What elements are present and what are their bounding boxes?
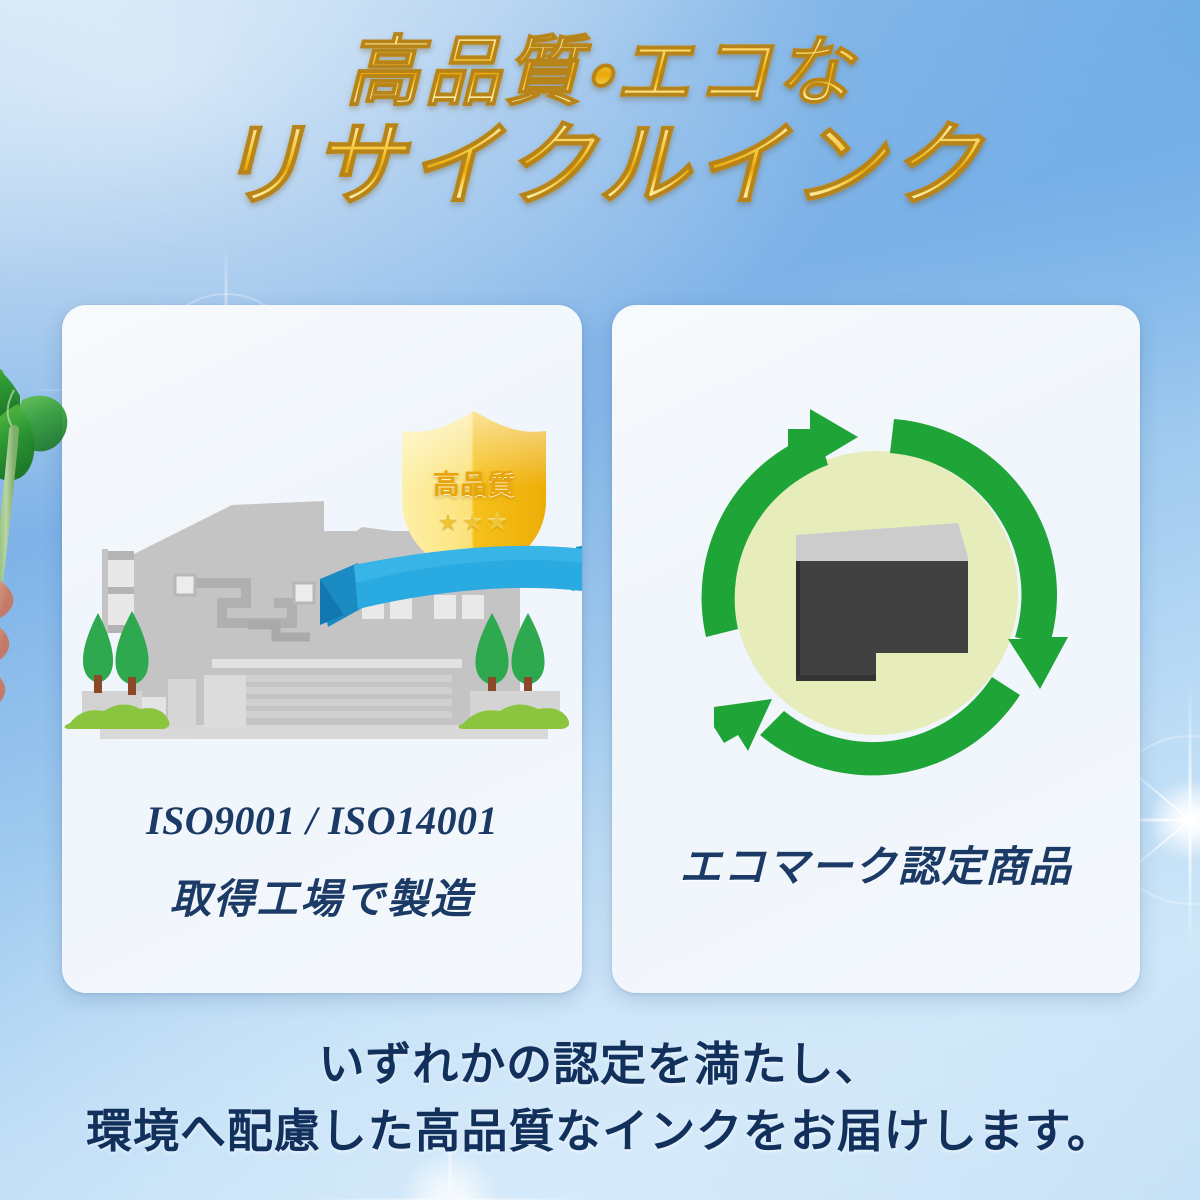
flare-core <box>1148 778 1200 862</box>
card-iso-certification[interactable]: 高品質 ★★★ ISO9001 / ISO14001 取得工場で製造 <box>62 305 582 993</box>
ecomark-caption: エコマーク認定商品 <box>612 833 1140 894</box>
recycle-arrows-icon <box>668 385 1084 801</box>
clover-leaves <box>0 359 67 480</box>
recycle-illustration <box>668 385 1084 801</box>
iso-factory-caption: 取得工場で製造 <box>62 865 582 925</box>
hand <box>0 570 13 764</box>
headline-block: 高品質・エコな リサイクルインク <box>0 34 1200 215</box>
headline-line-2: リサイクルインク <box>0 119 1200 215</box>
shield-label: 高品質 <box>384 463 564 502</box>
shield-stars: ★★★ <box>384 508 564 537</box>
iso-numbers-caption: ISO9001 / ISO14001 <box>62 797 582 844</box>
ribbon-icon <box>314 537 582 641</box>
promo-banner: 高品質・エコな リサイクルインク <box>0 0 1200 1200</box>
headline-line-1: 高品質・エコな <box>0 34 1200 113</box>
footer-line-1: いずれかの認定を満たし、 <box>0 1028 1200 1094</box>
flare-ray-vertical <box>1189 680 1192 960</box>
card-ecomark-certification[interactable]: エコマーク認定商品 <box>612 305 1140 993</box>
footer-line-2: 環境へ配慮した高品質なインクをお届けします。 <box>0 1095 1200 1161</box>
ribbon-banner <box>314 537 582 641</box>
